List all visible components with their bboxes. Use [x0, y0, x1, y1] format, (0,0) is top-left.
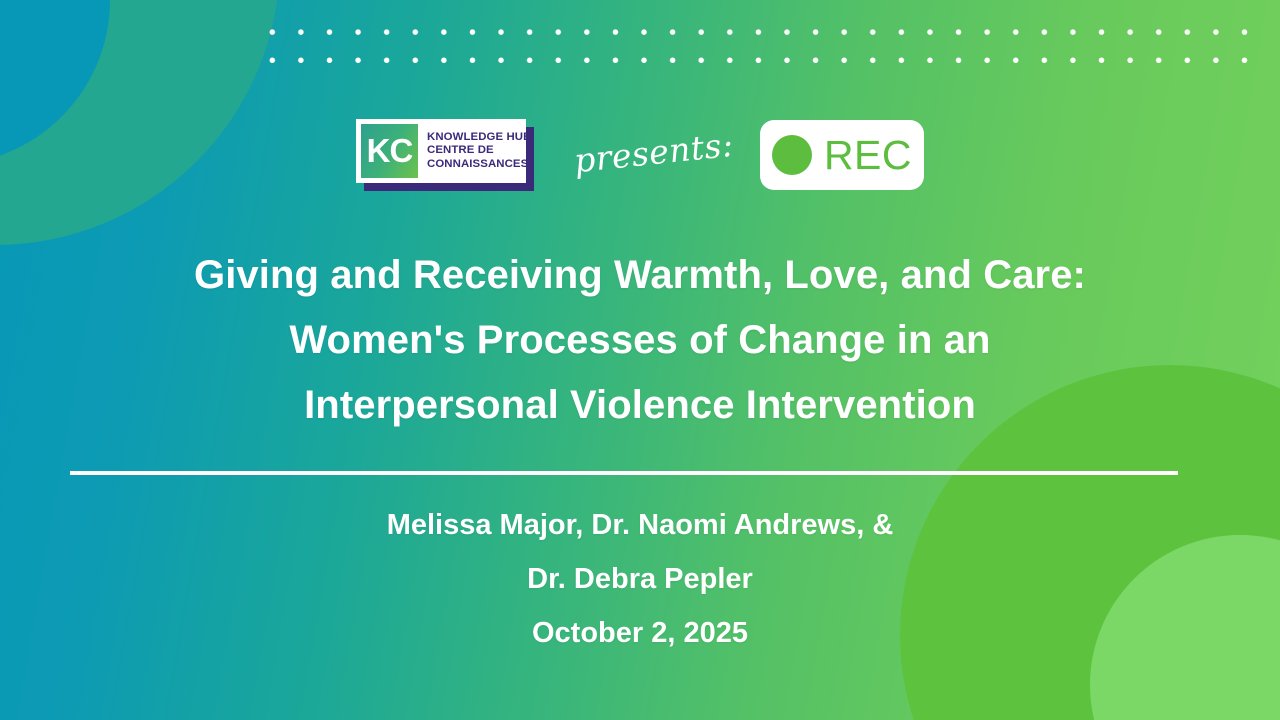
- title-slide: KC KNOWLEDGE HUB CENTRE DE CONNAISSANCES…: [0, 0, 1280, 720]
- rec-logo-label: REC: [824, 135, 912, 176]
- knowledge-hub-logo: KC KNOWLEDGE HUB CENTRE DE CONNAISSANCES: [356, 119, 534, 191]
- decorative-dot-grid: [258, 18, 1260, 74]
- presenter-line1: Melissa Major, Dr. Naomi Andrews, &: [0, 498, 1280, 552]
- rec-logo: REC: [760, 120, 924, 190]
- page-title-line2: Women's Processes of Change in an: [0, 308, 1280, 373]
- knowledge-hub-logo-text: KNOWLEDGE HUB CENTRE DE CONNAISSANCES: [418, 131, 531, 171]
- page-title-line1: Giving and Receiving Warmth, Love, and C…: [0, 243, 1280, 308]
- divider: [70, 471, 1178, 475]
- page-title: Giving and Receiving Warmth, Love, and C…: [0, 243, 1280, 438]
- logo-row: KC KNOWLEDGE HUB CENTRE DE CONNAISSANCES…: [0, 112, 1280, 198]
- page-title-line3: Interpersonal Violence Intervention: [0, 373, 1280, 438]
- record-dot-icon: [772, 135, 812, 175]
- presentation-date: October 2, 2025: [0, 606, 1280, 660]
- presenter-info: Melissa Major, Dr. Naomi Andrews, & Dr. …: [0, 498, 1280, 660]
- knowledge-hub-logo-card: KC KNOWLEDGE HUB CENTRE DE CONNAISSANCES: [356, 119, 526, 183]
- presents-label: presents:: [572, 124, 736, 185]
- knowledge-hub-logo-line1: KNOWLEDGE HUB: [427, 131, 531, 144]
- knowledge-hub-logo-line2: CENTRE DE: [427, 144, 531, 157]
- kc-monogram-icon: KC: [361, 124, 418, 178]
- presenter-line2: Dr. Debra Pepler: [0, 552, 1280, 606]
- knowledge-hub-logo-line3: CONNAISSANCES: [427, 158, 531, 171]
